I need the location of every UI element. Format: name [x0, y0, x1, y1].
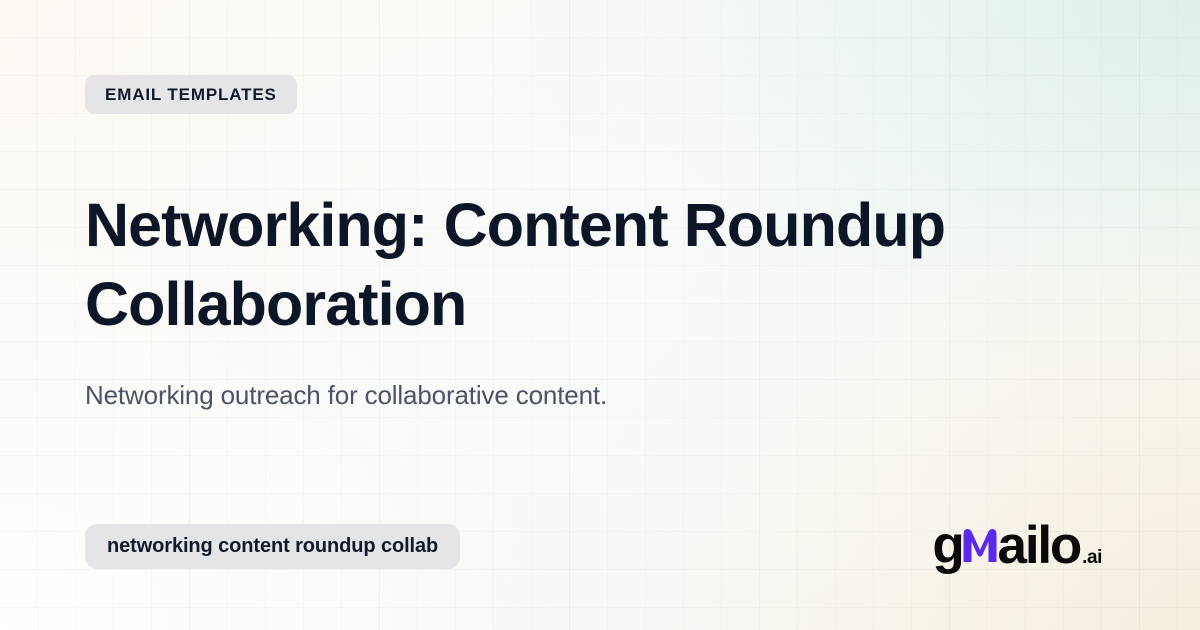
brand-logo: g ailo .ai: [932, 516, 1102, 572]
logo-suffix: ailo: [998, 519, 1081, 572]
logo-prefix: g: [932, 519, 962, 572]
category-badge: EMAIL TEMPLATES: [85, 75, 297, 114]
page-subtitle: Networking outreach for collaborative co…: [85, 377, 985, 413]
logo-tld: .ai: [1082, 548, 1102, 567]
page-title: Networking: Content Roundup Collaboratio…: [85, 186, 1035, 344]
template-slug-badge: networking content roundup collab: [85, 524, 460, 569]
card-content: EMAIL TEMPLATES Networking: Content Roun…: [0, 0, 1200, 630]
template-preview-card: EMAIL TEMPLATES Networking: Content Roun…: [0, 0, 1200, 630]
logo-wordmark: g ailo .ai: [932, 519, 1102, 572]
logo-accent-m-icon: [961, 523, 999, 563]
